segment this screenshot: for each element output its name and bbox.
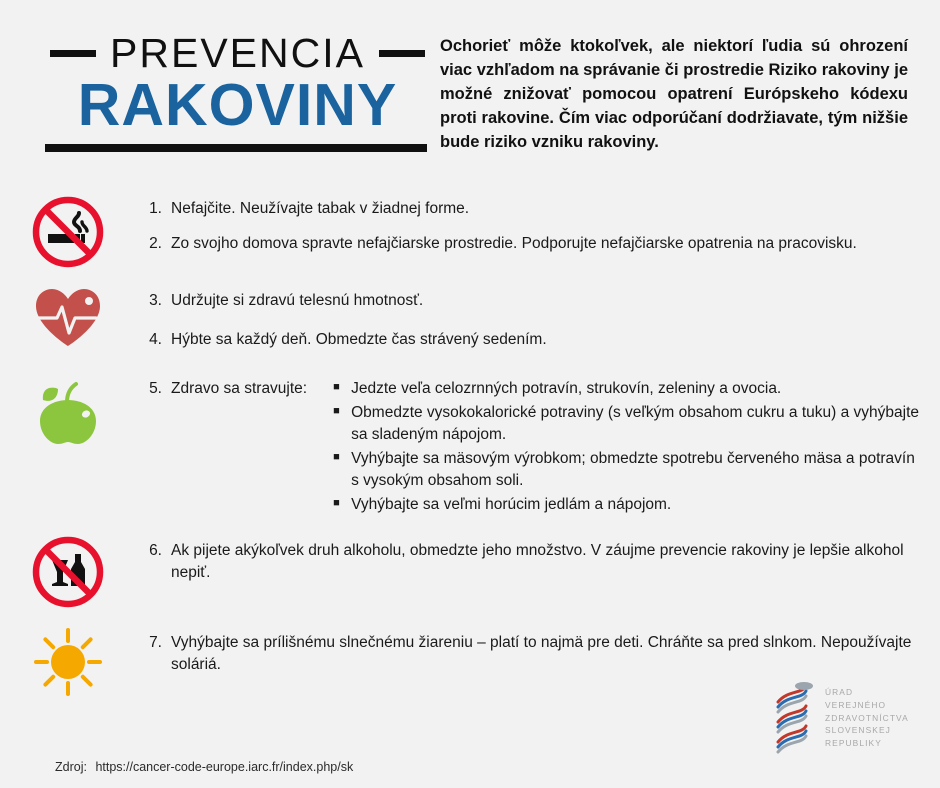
list-item-number: 5. bbox=[136, 378, 171, 400]
sublist-item: ■ Vyhýbajte sa veľmi horúcim jedlám a ná… bbox=[333, 494, 922, 516]
list-item-text: Ak pijete akýkoľvek druh alkoholu, obmed… bbox=[171, 540, 922, 584]
list-item: 4. Hýbte sa každý deň. Obmedzte čas strá… bbox=[136, 329, 922, 351]
list-item-number: 4. bbox=[136, 329, 171, 351]
infographic-poster: PREVENCIA RAKOVINY Ochorieť môže ktokoľv… bbox=[0, 0, 940, 788]
icon-cell-2 bbox=[0, 282, 136, 350]
list-item-number: 3. bbox=[136, 290, 171, 312]
page-title-top: PREVENCIA bbox=[110, 33, 365, 74]
sublist-item-text: Obmedzte vysokokalorické potraviny (s ve… bbox=[351, 402, 922, 446]
text-cell-2: 3. Udržujte si zdravú telesnú hmotnosť. … bbox=[136, 282, 940, 351]
sun-icon bbox=[32, 626, 104, 698]
text-cell-4: 6. Ak pijete akýkoľvek druh alkoholu, ob… bbox=[136, 530, 940, 584]
square-bullet-icon: ■ bbox=[333, 448, 351, 467]
list-item-number: 2. bbox=[136, 233, 171, 255]
list-item: 5. Zdravo sa stravujte: ■ Jedzte veľa ce… bbox=[136, 378, 922, 516]
list-item: 7. Vyhýbajte sa prílišnému slnečnému žia… bbox=[136, 632, 922, 676]
list-item-text: Zdravo sa stravujte: bbox=[171, 378, 307, 400]
text-cell-1: 1. Nefajčite. Neužívajte tabak v žiadnej… bbox=[136, 190, 940, 255]
list-item-text: Zo svojho domova spravte nefajčiarske pr… bbox=[171, 233, 922, 255]
source-url[interactable]: https://cancer-code-europe.iarc.fr/index… bbox=[95, 760, 353, 774]
list-item-text: Nefajčite. Neužívajte tabak v žiadnej fo… bbox=[171, 198, 922, 220]
sublist-item-text: Vyhýbajte sa veľmi horúcim jedlám a nápo… bbox=[351, 494, 922, 516]
source-label: Zdroj: bbox=[55, 760, 87, 774]
title-dash-left-icon bbox=[50, 50, 96, 57]
icon-cell-3 bbox=[0, 370, 136, 446]
text-cell-5: 7. Vyhýbajte sa prílišnému slnečnému žia… bbox=[136, 622, 940, 676]
caduceus-snake-icon bbox=[768, 682, 816, 754]
recommendation-row-4: 6. Ak pijete akýkoľvek druh alkoholu, ob… bbox=[0, 530, 940, 622]
no-alcohol-icon bbox=[30, 534, 106, 610]
list-item-number: 1. bbox=[136, 198, 171, 220]
recommendation-row-3: 5. Zdravo sa stravujte: ■ Jedzte veľa ce… bbox=[0, 370, 940, 530]
sublist-item: ■ Jedzte veľa celozrnných potravín, stru… bbox=[333, 378, 922, 400]
poster-header: PREVENCIA RAKOVINY Ochorieť môže ktokoľv… bbox=[0, 0, 940, 185]
recommendation-row-2: 3. Udržujte si zdravú telesnú hmotnosť. … bbox=[0, 282, 940, 370]
list-item-text: Hýbte sa každý deň. Obmedzte čas stráven… bbox=[171, 329, 922, 351]
title-top-row: PREVENCIA bbox=[45, 28, 430, 78]
intro-paragraph: Ochorieť môže ktokoľvek, ale niektorí ľu… bbox=[440, 34, 908, 154]
sublist: ■ Jedzte veľa celozrnných potravín, stru… bbox=[333, 378, 922, 516]
list-item-lead: 5. Zdravo sa stravujte: bbox=[136, 378, 333, 400]
list-item: 2. Zo svojho domova spravte nefajčiarske… bbox=[136, 233, 922, 255]
icon-cell-4 bbox=[0, 530, 136, 610]
sublist-item-text: Vyhýbajte sa mäsovým výrobkom; obmedzte … bbox=[351, 448, 922, 492]
title-underline-rule bbox=[45, 144, 427, 152]
title-dash-right-icon bbox=[379, 50, 425, 57]
sublist-item: ■ Vyhýbajte sa mäsovým výrobkom; obmedzt… bbox=[333, 448, 922, 492]
no-smoking-icon bbox=[30, 194, 106, 270]
sublist-item-text: Jedzte veľa celozrnných potravín, struko… bbox=[351, 378, 922, 400]
list-item: 6. Ak pijete akýkoľvek druh alkoholu, ob… bbox=[136, 540, 922, 584]
list-item-text: Udržujte si zdravú telesnú hmotnosť. bbox=[171, 290, 922, 312]
title-block: PREVENCIA RAKOVINY bbox=[45, 28, 430, 152]
icon-cell-1 bbox=[0, 190, 136, 270]
list-item: 3. Udržujte si zdravú telesnú hmotnosť. bbox=[136, 290, 922, 312]
logo-text: ÚRAD VEREJNÉHO ZDRAVOTNÍCTVA SLOVENSKEJ … bbox=[825, 686, 909, 750]
recommendations-list: 1. Nefajčite. Neužívajte tabak v žiadnej… bbox=[0, 190, 940, 702]
apple-icon bbox=[34, 374, 102, 446]
list-item-text: Vyhýbajte sa prílišnému slnečnému žiaren… bbox=[171, 632, 922, 676]
page-title-bottom: RAKOVINY bbox=[45, 76, 430, 135]
heart-pulse-icon bbox=[32, 286, 104, 350]
list-item-number: 6. bbox=[136, 540, 171, 562]
square-bullet-icon: ■ bbox=[333, 378, 351, 397]
square-bullet-icon: ■ bbox=[333, 494, 351, 513]
square-bullet-icon: ■ bbox=[333, 402, 351, 421]
list-item: 1. Nefajčite. Neužívajte tabak v žiadnej… bbox=[136, 198, 922, 220]
icon-cell-5 bbox=[0, 622, 136, 698]
recommendation-row-1: 1. Nefajčite. Neužívajte tabak v žiadnej… bbox=[0, 190, 940, 282]
source-line: Zdroj: https://cancer-code-europe.iarc.f… bbox=[55, 760, 353, 774]
list-item-number: 7. bbox=[136, 632, 171, 654]
sublist-item: ■ Obmedzte vysokokalorické potraviny (s … bbox=[333, 402, 922, 446]
text-cell-3: 5. Zdravo sa stravujte: ■ Jedzte veľa ce… bbox=[136, 370, 940, 516]
uvz-sr-logo: ÚRAD VEREJNÉHO ZDRAVOTNÍCTVA SLOVENSKEJ … bbox=[768, 682, 909, 754]
